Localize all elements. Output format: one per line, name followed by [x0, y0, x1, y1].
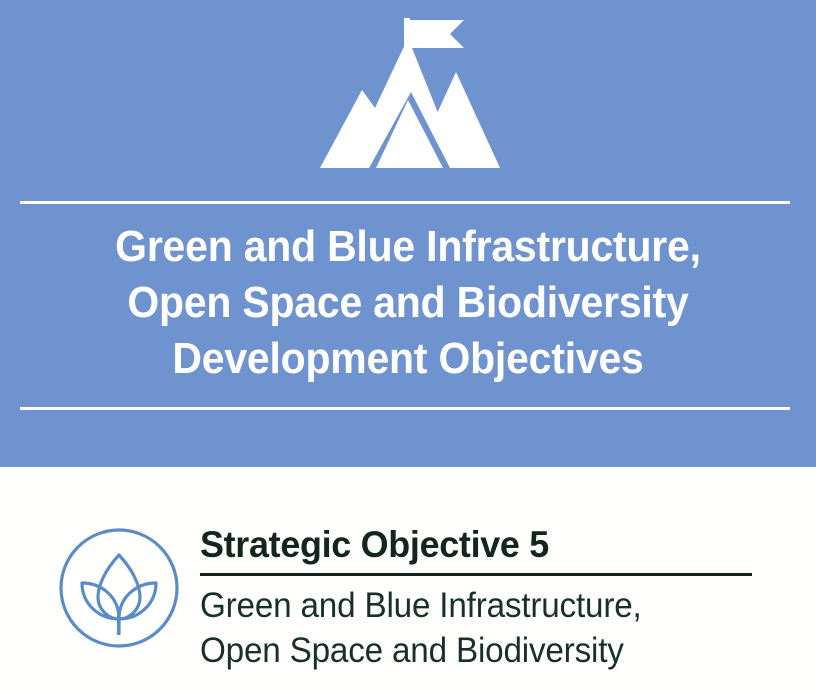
- objective-heading: Strategic Objective 5: [200, 523, 782, 567]
- banner-title: Green and Blue Infrastructure, Open Spac…: [45, 219, 770, 387]
- banner-rule-top: [20, 201, 790, 204]
- lotus-flower-in-circle-icon: [58, 527, 180, 649]
- banner-section: Green and Blue Infrastructure, Open Spac…: [0, 0, 816, 467]
- objective-text-block: Strategic Objective 5 Green and Blue Inf…: [200, 523, 800, 673]
- objective-subtitle: Green and Blue Infrastructure, Open Spac…: [200, 583, 770, 673]
- objective-subtitle-line-1: Green and Blue Infrastructure,: [200, 583, 770, 628]
- banner-rule-bottom: [20, 407, 790, 410]
- banner-title-line-3: Development Objectives: [45, 331, 770, 387]
- banner-title-line-1: Green and Blue Infrastructure,: [45, 219, 770, 275]
- objective-subtitle-line-2: Open Space and Biodiversity: [200, 628, 770, 673]
- objective-section: Strategic Objective 5 Green and Blue Inf…: [0, 467, 816, 692]
- mountain-with-flag-icon: [300, 18, 516, 170]
- banner-title-line-2: Open Space and Biodiversity: [45, 275, 770, 331]
- objective-divider: [200, 573, 752, 576]
- page-root: Green and Blue Infrastructure, Open Spac…: [0, 0, 816, 692]
